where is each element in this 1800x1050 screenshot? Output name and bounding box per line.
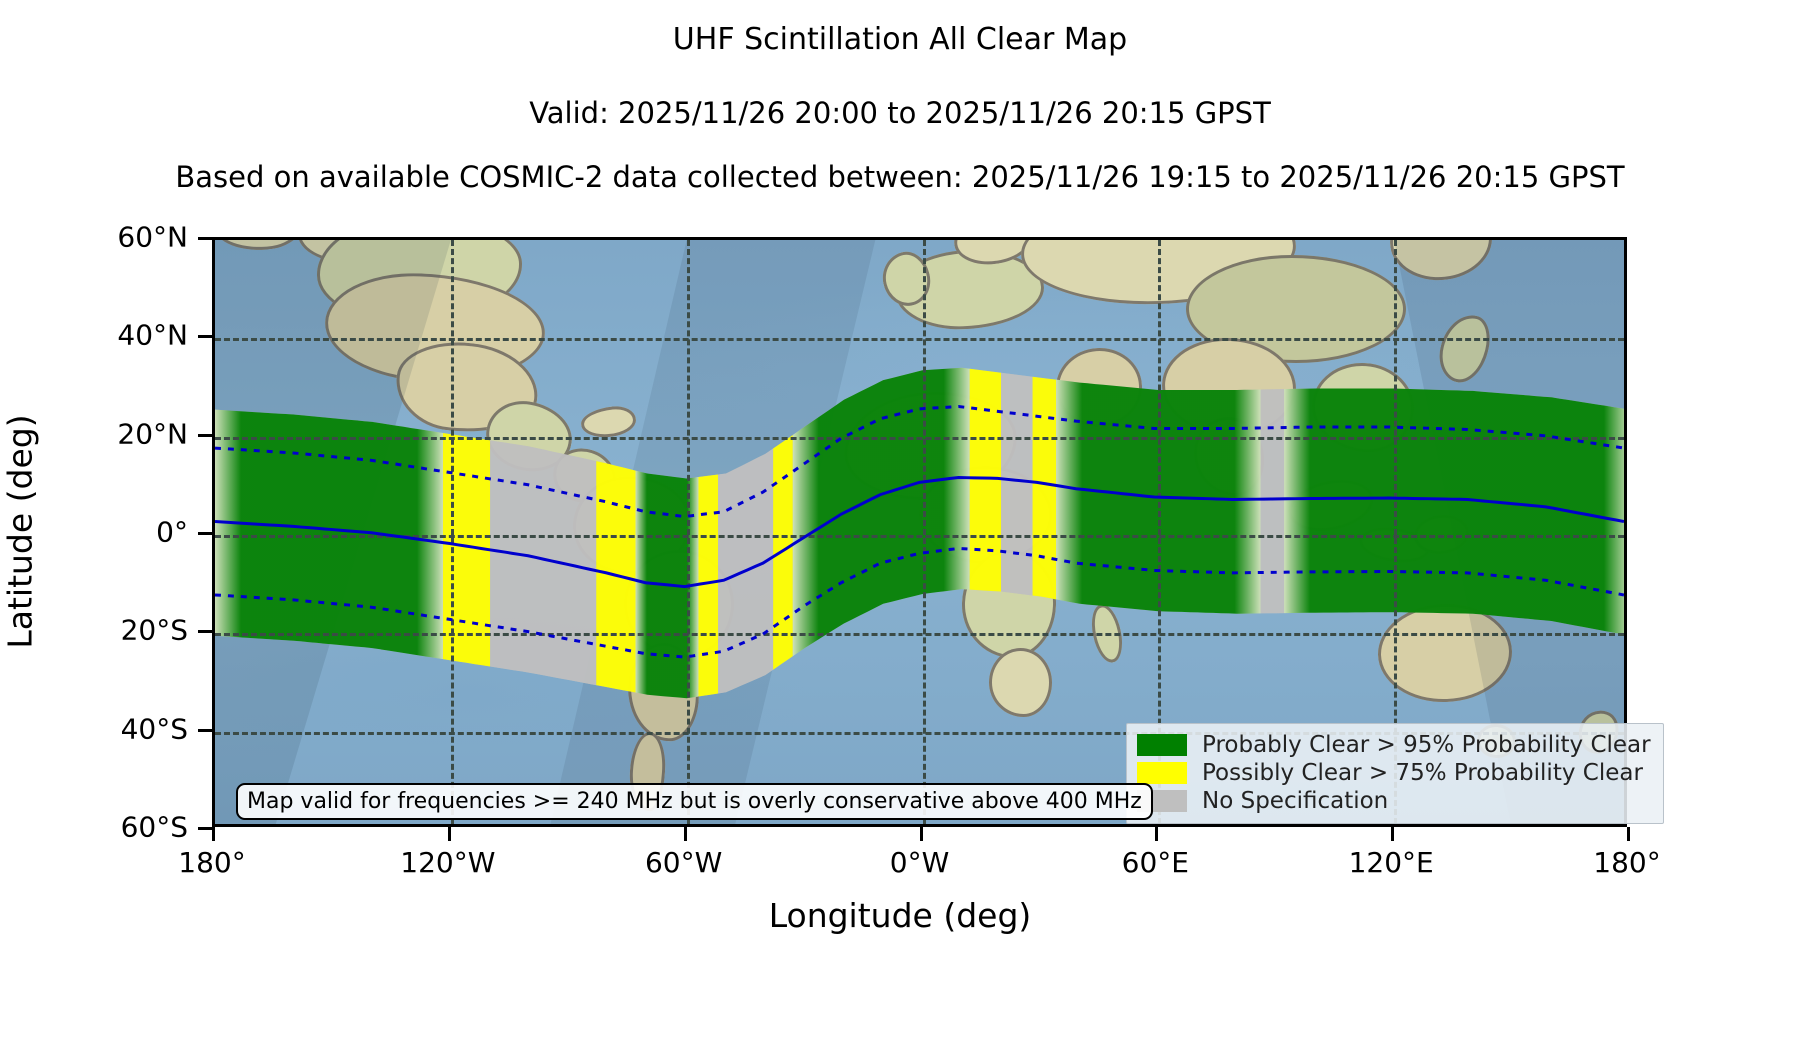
- magnetic-equator-line: [215, 406, 1624, 516]
- x-tick-label: 60°W: [645, 846, 722, 879]
- y-axis-title: Latitude (deg): [1, 372, 40, 692]
- y-tick-label: 60°N: [117, 221, 188, 254]
- y-tick-label: 0°: [156, 516, 188, 549]
- legend-item-probably-clear: Probably Clear > 95% Probability Clear: [1137, 731, 1651, 759]
- x-tick-mark: [684, 827, 687, 841]
- frequency-validity-note: Map valid for frequencies >= 240 MHz but…: [236, 783, 1153, 820]
- y-tick-label: 40°S: [121, 712, 188, 745]
- x-axis-title: Longitude (deg): [0, 896, 1800, 935]
- legend-item-possibly-clear: Possibly Clear > 75% Probability Clear: [1137, 759, 1651, 787]
- y-tick-mark: [198, 335, 212, 338]
- x-tick-label: 180°: [178, 846, 245, 879]
- valid-time-subtitle: Valid: 2025/11/26 20:00 to 2025/11/26 20…: [0, 96, 1800, 130]
- x-tick-label: 120°E: [1349, 846, 1434, 879]
- x-tick-label: 180°: [1593, 846, 1660, 879]
- y-tick-label: 20°S: [121, 614, 188, 647]
- legend-label-probably-clear: Probably Clear > 95% Probability Clear: [1202, 732, 1651, 758]
- map-legend: Probably Clear > 95% Probability ClearPo…: [1126, 723, 1664, 824]
- legend-item-no-specification: No Specification: [1137, 787, 1651, 815]
- x-tick-label: 120°W: [400, 846, 495, 879]
- y-tick-label: 60°S: [121, 811, 188, 844]
- x-tick-mark: [1627, 827, 1630, 841]
- magnetic-equator-line: [215, 548, 1624, 657]
- x-tick-mark: [920, 827, 923, 841]
- x-tick-mark: [448, 827, 451, 841]
- y-tick-mark: [198, 532, 212, 535]
- legend-swatch-possibly-clear: [1137, 762, 1187, 784]
- legend-label-possibly-clear: Possibly Clear > 75% Probability Clear: [1202, 760, 1643, 786]
- scintillation-map-page: UHF Scintillation All Clear Map Valid: 2…: [0, 0, 1800, 1050]
- legend-label-no-specification: No Specification: [1202, 788, 1388, 814]
- x-tick-label: 0°W: [890, 846, 950, 879]
- legend-swatch-probably-clear: [1137, 734, 1187, 756]
- x-tick-mark: [1391, 827, 1394, 841]
- page-title: UHF Scintillation All Clear Map: [0, 22, 1800, 57]
- magnetic-equator-line: [215, 477, 1624, 586]
- x-tick-mark: [1155, 827, 1158, 841]
- y-tick-mark: [198, 434, 212, 437]
- x-tick-label: 60°E: [1122, 846, 1189, 879]
- x-tick-mark: [212, 827, 215, 841]
- y-tick-mark: [198, 630, 212, 633]
- y-tick-mark: [198, 827, 212, 830]
- y-tick-label: 20°N: [117, 417, 188, 450]
- frequency-validity-note-text: Map valid for frequencies >= 240 MHz but…: [247, 789, 1142, 814]
- data-source-subtitle: Based on available COSMIC-2 data collect…: [0, 160, 1800, 194]
- y-tick-label: 40°N: [117, 319, 188, 352]
- y-tick-mark: [198, 237, 212, 240]
- y-tick-mark: [198, 729, 212, 732]
